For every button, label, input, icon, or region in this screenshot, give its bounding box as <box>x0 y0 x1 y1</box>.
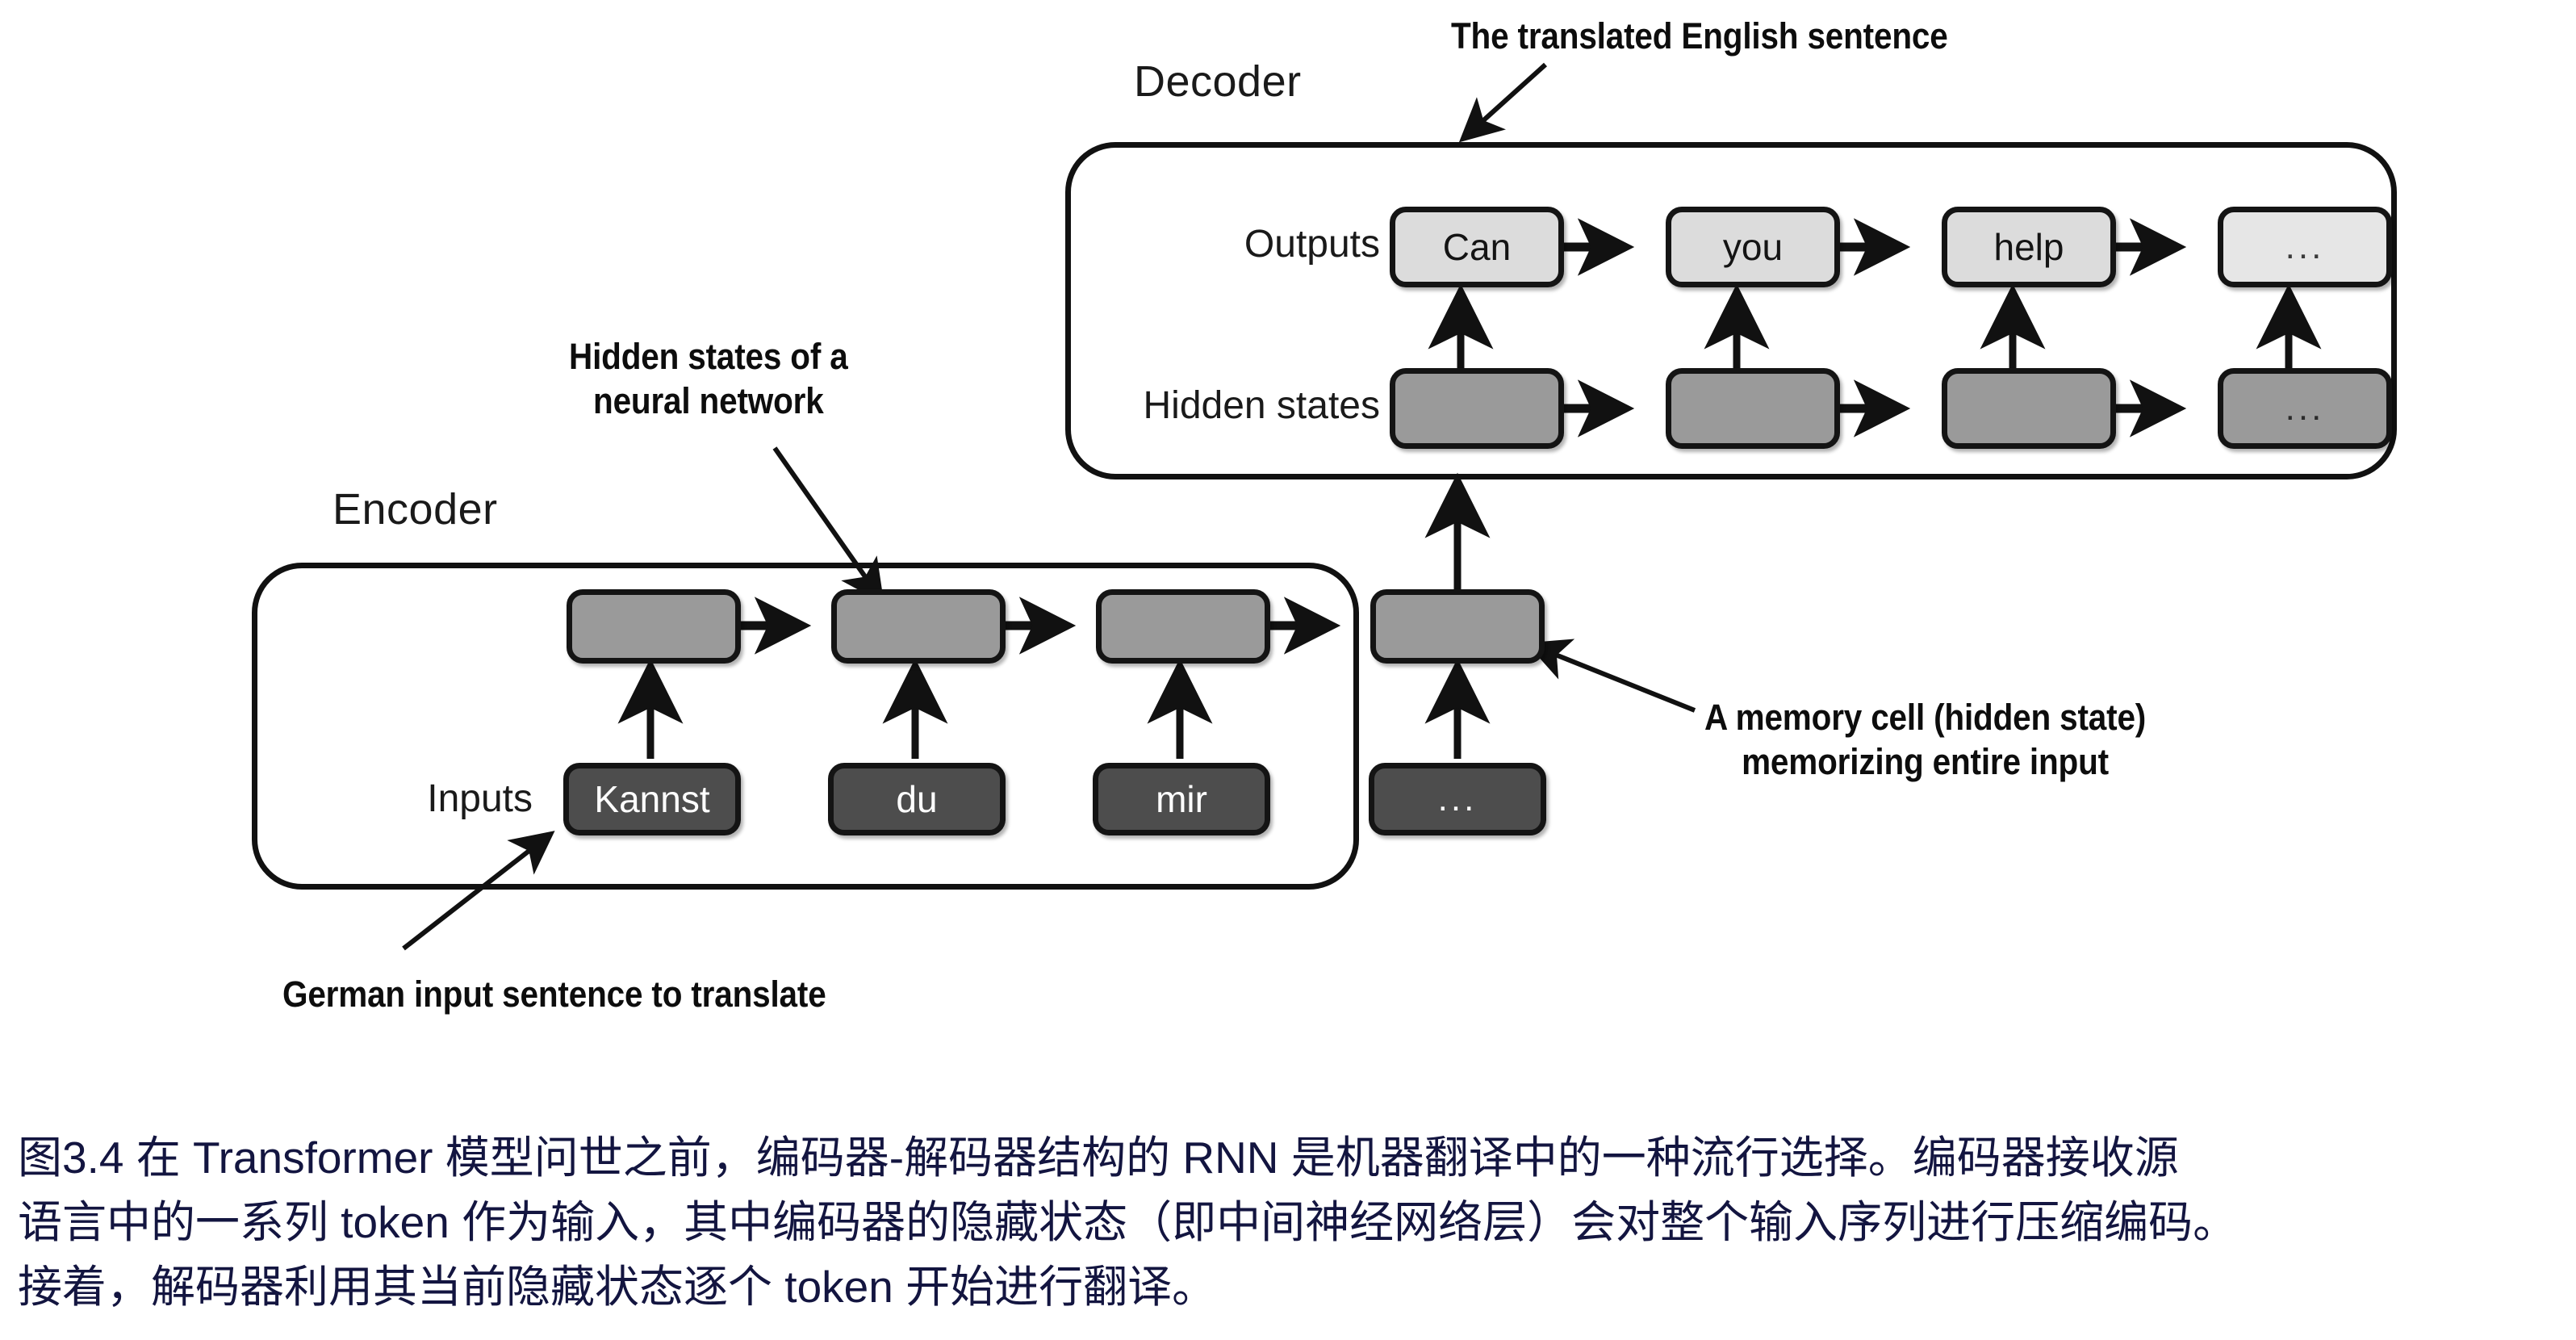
decoder-output-cell-1: Can <box>1390 207 1564 287</box>
callout-translated-sentence-line: The translated English sentence <box>1451 15 1948 59</box>
encoder-input-token-2: du <box>896 777 937 821</box>
encoder-hidden-cell-2 <box>831 589 1006 664</box>
caption-line-2: 语言中的一系列 token 作为输入，其中编码器的隐藏状态（即中间神经网络层）会… <box>18 1191 2561 1255</box>
decoder-hidden-cell-1 <box>1390 368 1564 449</box>
decoder-output-cell-3: help <box>1942 207 2116 287</box>
decoder-hidden-cell-3 <box>1942 368 2116 449</box>
decoder-output-token-4: ... <box>2285 238 2325 256</box>
callout-hidden-states: Hidden states of a neural network <box>569 335 848 424</box>
caption-line-1: 图3.4 在 Transformer 模型问世之前，编码器-解码器结构的 RNN… <box>18 1126 2561 1191</box>
encoder-input-cell-1: Kannst <box>563 763 741 835</box>
outputs-row-label: Outputs <box>1130 222 1380 266</box>
rnn-encoder-decoder-diagram: Encoder Decoder Outputs Hidden states In… <box>0 0 2576 1074</box>
decoder-output-cell-2: you <box>1666 207 1840 287</box>
decoder-hidden-token-4: ... <box>2285 400 2325 417</box>
decoder-output-token-3: help <box>1994 225 2064 269</box>
callout-memory-cell-line1: A memory cell (hidden state) <box>1704 696 2146 740</box>
encoder-hidden-cell-1 <box>567 589 741 664</box>
decoder-hidden-cell-2 <box>1666 368 1840 449</box>
encoder-input-cell-3: mir <box>1093 763 1270 835</box>
callout-memory-cell-line2: memorizing entire input <box>1704 740 2146 785</box>
encoder-hidden-cell-4 <box>1370 589 1545 664</box>
callout-german-input: German input sentence to translate <box>282 973 826 1017</box>
hidden-states-row-label: Hidden states <box>1073 383 1380 428</box>
inputs-row-label: Inputs <box>299 777 533 821</box>
decoder-output-token-2: you <box>1723 225 1783 269</box>
figure-caption: 图3.4 在 Transformer 模型问世之前，编码器-解码器结构的 RNN… <box>0 1126 2576 1319</box>
callout-hidden-states-line2: neural network <box>569 379 848 424</box>
decoder-title: Decoder <box>1134 57 1302 107</box>
decoder-hidden-cell-4: ... <box>2218 368 2392 449</box>
callout-german-input-line: German input sentence to translate <box>282 973 826 1017</box>
decoder-output-cell-4: ... <box>2218 207 2392 287</box>
encoder-input-cell-2: du <box>828 763 1006 835</box>
decoder-output-token-1: Can <box>1443 225 1511 269</box>
callout-translated-sentence: The translated English sentence <box>1451 15 1948 59</box>
callout-memory-cell: A memory cell (hidden state) memorizing … <box>1704 696 2146 785</box>
encoder-title: Encoder <box>332 484 498 534</box>
encoder-input-token-1: Kannst <box>594 777 709 821</box>
leader-memory-cell <box>1533 646 1695 710</box>
encoder-input-token-4: ... <box>1438 790 1478 808</box>
encoder-input-cell-4: ... <box>1369 763 1546 835</box>
encoder-input-token-3: mir <box>1156 777 1207 821</box>
caption-line-3: 接着，解码器利用其当前隐藏状态逐个 token 开始进行翻译。 <box>18 1255 2561 1320</box>
encoder-hidden-cell-3 <box>1096 589 1270 664</box>
callout-hidden-states-line1: Hidden states of a <box>569 335 848 379</box>
leader-translated-sentence <box>1465 65 1545 137</box>
